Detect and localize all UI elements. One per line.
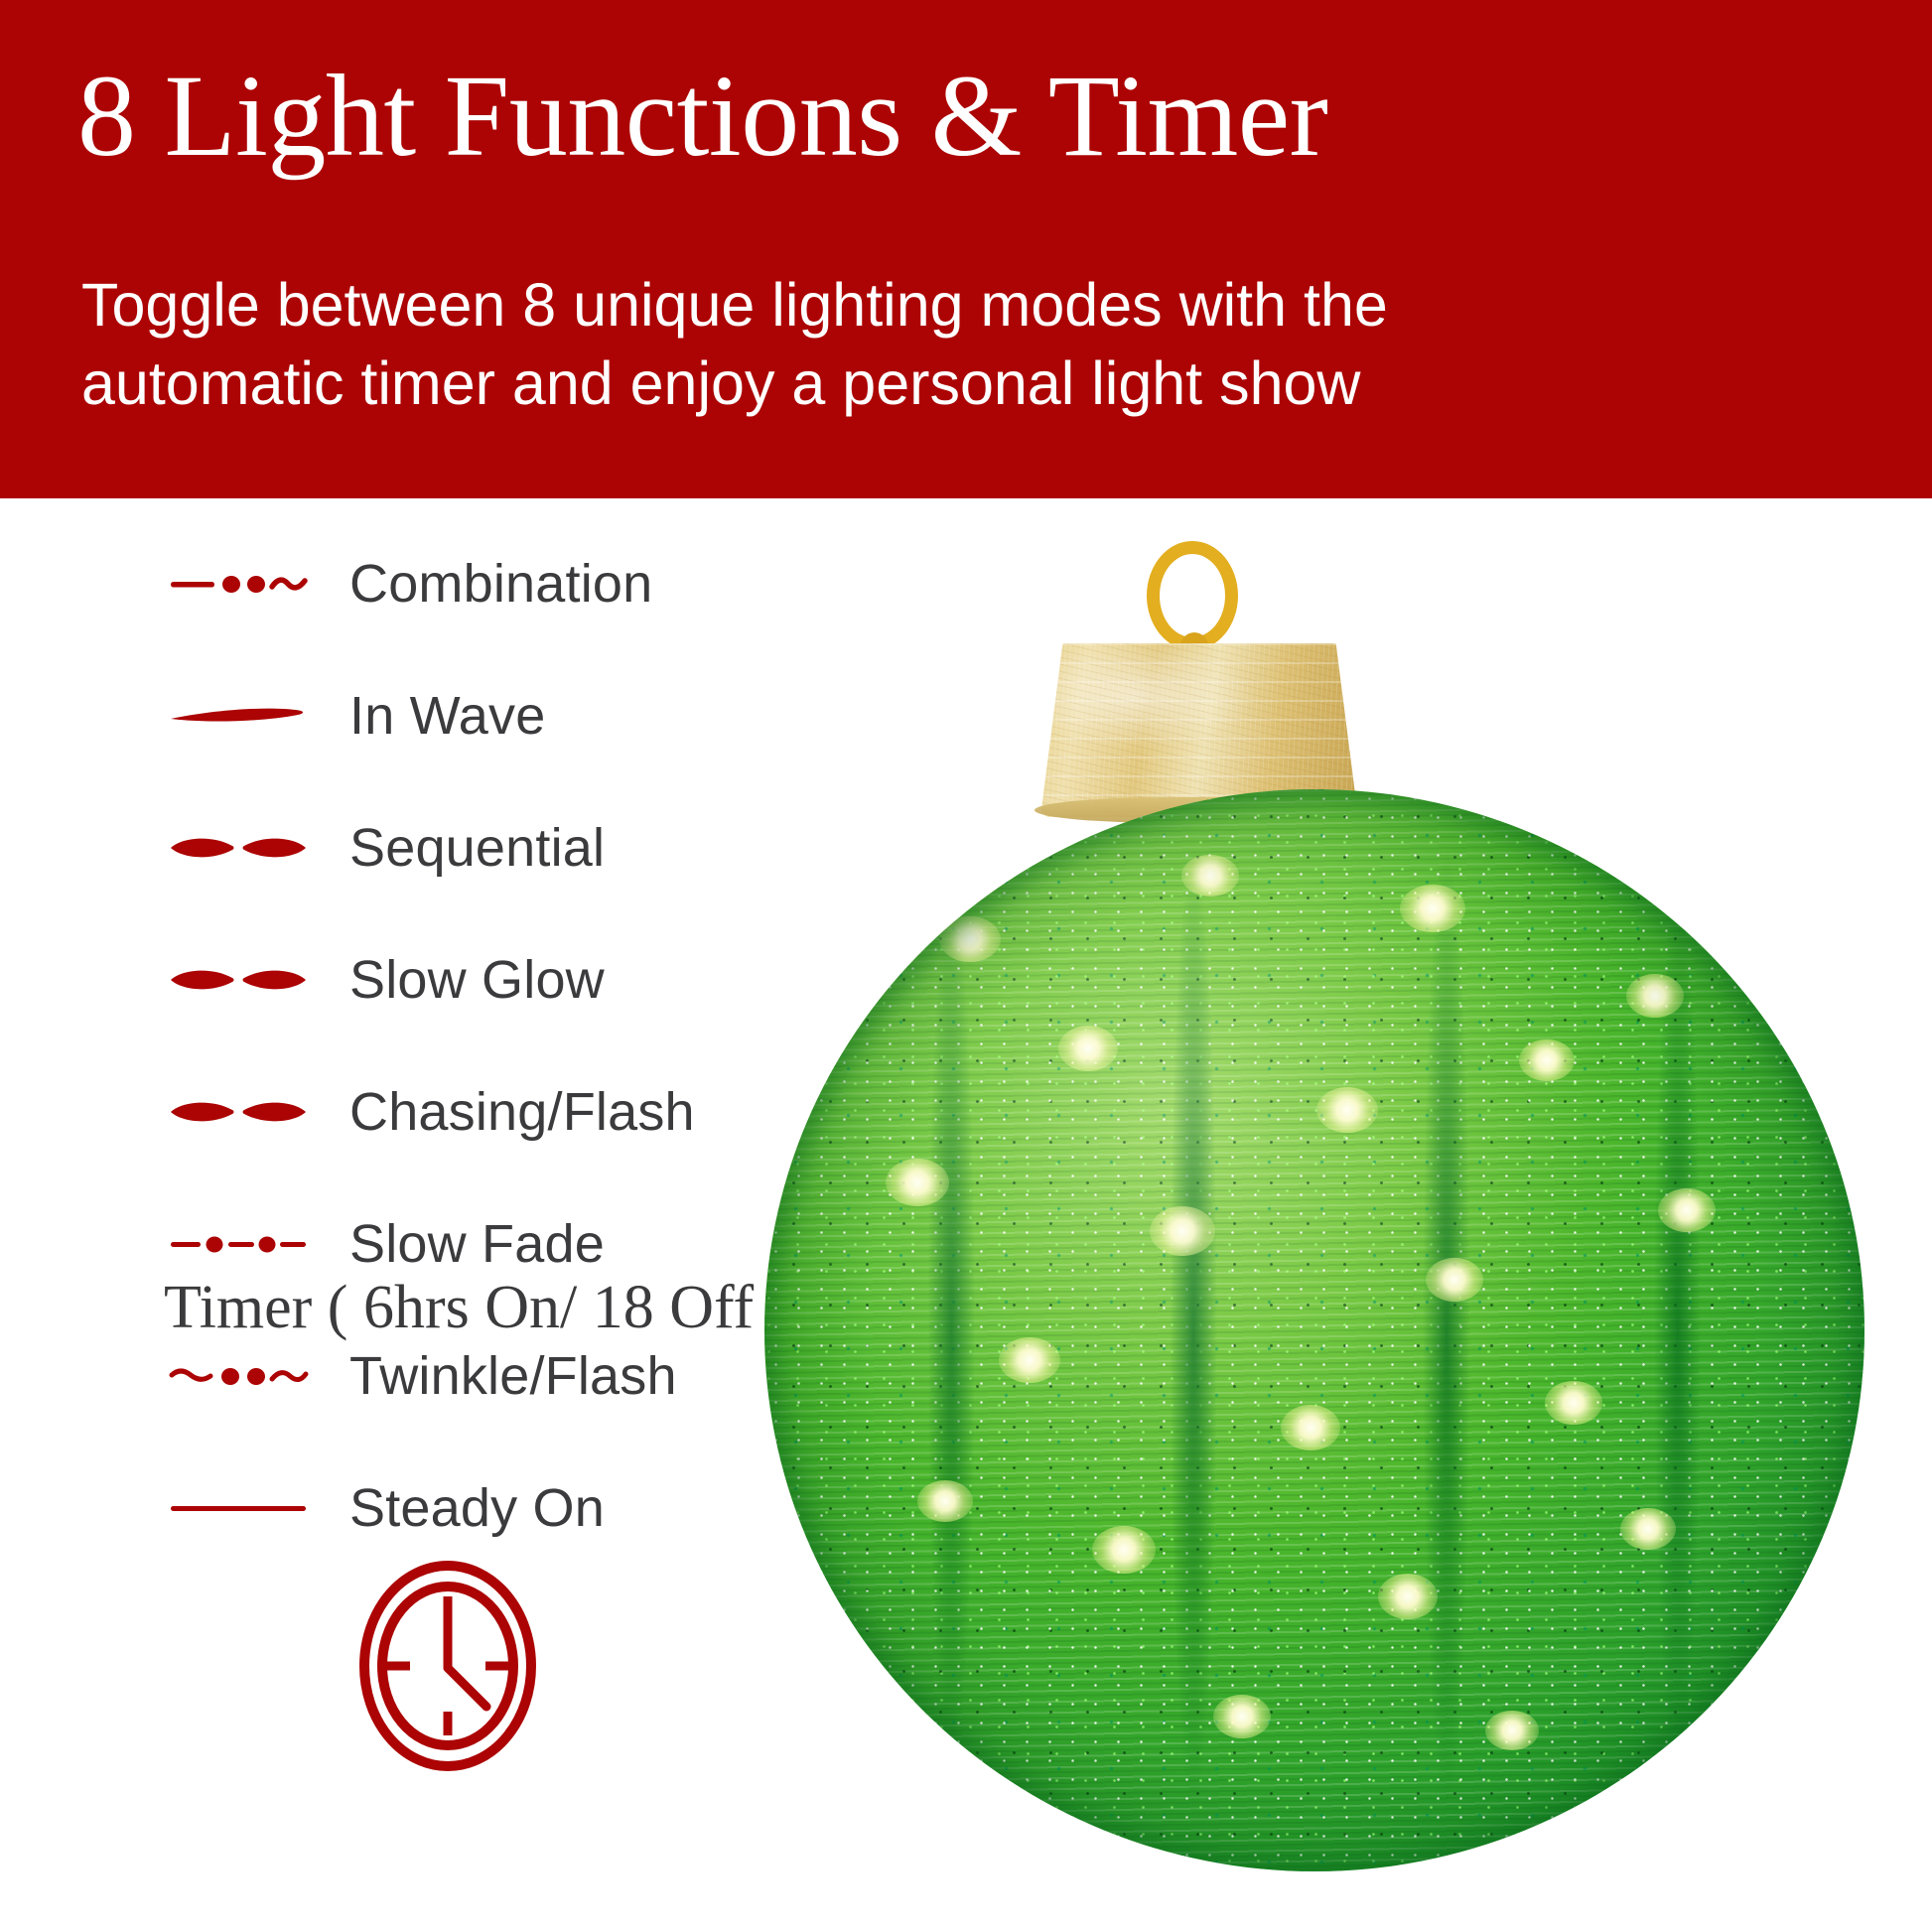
list-item-label: Steady On bbox=[349, 1477, 605, 1539]
ornament-green-ball bbox=[764, 789, 1864, 1871]
timer-caption: Timer ( 6hrs On/ 18 Off ) bbox=[164, 1273, 789, 1343]
subtitle-line-2: automatic timer and enjoy a personal lig… bbox=[81, 345, 1630, 423]
list-item-label: Chasing/Flash bbox=[349, 1081, 695, 1143]
dash-dot-dot-tilde-icon bbox=[169, 554, 308, 614]
list-item-label: Twinkle/Flash bbox=[349, 1345, 677, 1407]
double-lens-icon bbox=[169, 818, 308, 878]
list-item-label: Sequential bbox=[349, 817, 605, 879]
ornament-edge-shadow bbox=[764, 789, 1864, 1871]
double-lens-icon bbox=[169, 950, 308, 1010]
list-item-label: Slow Fade bbox=[349, 1213, 605, 1275]
subtitle-line-1: Toggle between 8 unique lighting modes w… bbox=[81, 271, 1388, 339]
list-item: Chasing/Flash bbox=[0, 1072, 695, 1152]
single-lens-wave-icon bbox=[169, 686, 308, 746]
list-item-label: Slow Glow bbox=[349, 949, 605, 1011]
header-banner: 8 Light Functions & Timer Toggle between… bbox=[0, 0, 1932, 498]
tilde-dot-dot-tilde-icon bbox=[169, 1346, 308, 1406]
list-item-label: Combination bbox=[349, 553, 652, 615]
double-lens-icon bbox=[169, 1082, 308, 1142]
dash-dot-dash-dot-dash-icon bbox=[169, 1214, 308, 1274]
list-item: Slow Glow bbox=[0, 940, 605, 1020]
solid-line-icon bbox=[169, 1478, 308, 1538]
list-item: In Wave bbox=[0, 676, 545, 756]
clock-icon bbox=[355, 1559, 540, 1773]
page-title: 8 Light Functions & Timer bbox=[77, 58, 1327, 175]
list-item: Sequential bbox=[0, 808, 605, 888]
list-item-label: In Wave bbox=[349, 685, 545, 747]
list-item: Twinkle/Flash bbox=[0, 1336, 677, 1416]
list-item: Combination bbox=[0, 544, 652, 623]
list-item: Steady On bbox=[0, 1468, 605, 1548]
product-image-ornament bbox=[764, 541, 1932, 1891]
page-subtitle: Toggle between 8 unique lighting modes w… bbox=[81, 266, 1630, 424]
list-item: Slow Fade bbox=[0, 1204, 605, 1284]
